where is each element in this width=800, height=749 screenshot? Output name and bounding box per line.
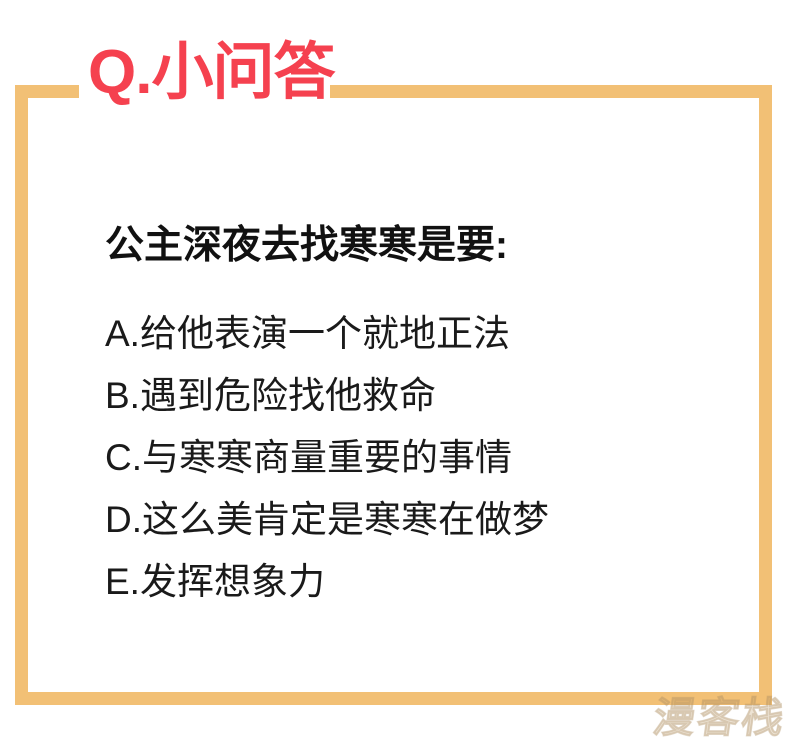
quiz-option-list: A.给他表演一个就地正法 B.遇到危险找他救命 C.与寒寒商量重要的事情 D.这…: [105, 309, 725, 607]
quiz-option-a[interactable]: A.给他表演一个就地正法: [105, 309, 725, 359]
quiz-option-c[interactable]: C.与寒寒商量重要的事情: [105, 433, 725, 483]
option-key-b: B.: [105, 375, 140, 416]
option-text-c: 与寒寒商量重要的事情: [142, 437, 512, 478]
frame-right-segment: [759, 85, 772, 705]
option-text-b: 遇到危险找他救命: [140, 375, 436, 416]
frame-top-right-segment: [330, 85, 772, 98]
option-text-d: 这么美肯定是寒寒在做梦: [142, 499, 549, 540]
page-title: Q.小问答: [88, 42, 334, 104]
option-key-a: A.: [105, 313, 140, 354]
quiz-page: Q.小问答 公主深夜去找寒寒是要: A.给他表演一个就地正法 B.遇到危险找他救…: [0, 0, 800, 749]
quiz-option-e[interactable]: E.发挥想象力: [105, 557, 725, 607]
option-text-a: 给他表演一个就地正法: [140, 313, 510, 354]
quiz-content: 公主深夜去找寒寒是要: A.给他表演一个就地正法 B.遇到危险找他救命 C.与寒…: [105, 222, 725, 618]
quiz-option-d[interactable]: D.这么美肯定是寒寒在做梦: [105, 495, 725, 545]
option-key-c: C.: [105, 437, 142, 478]
option-key-e: E.: [105, 561, 140, 602]
quiz-question: 公主深夜去找寒寒是要:: [105, 222, 725, 271]
quiz-option-b[interactable]: B.遇到危险找他救命: [105, 371, 725, 421]
option-key-d: D.: [105, 499, 142, 540]
frame-left-segment: [15, 85, 28, 705]
site-watermark: 漫客栈: [650, 684, 791, 745]
option-text-e: 发挥想象力: [140, 561, 325, 602]
